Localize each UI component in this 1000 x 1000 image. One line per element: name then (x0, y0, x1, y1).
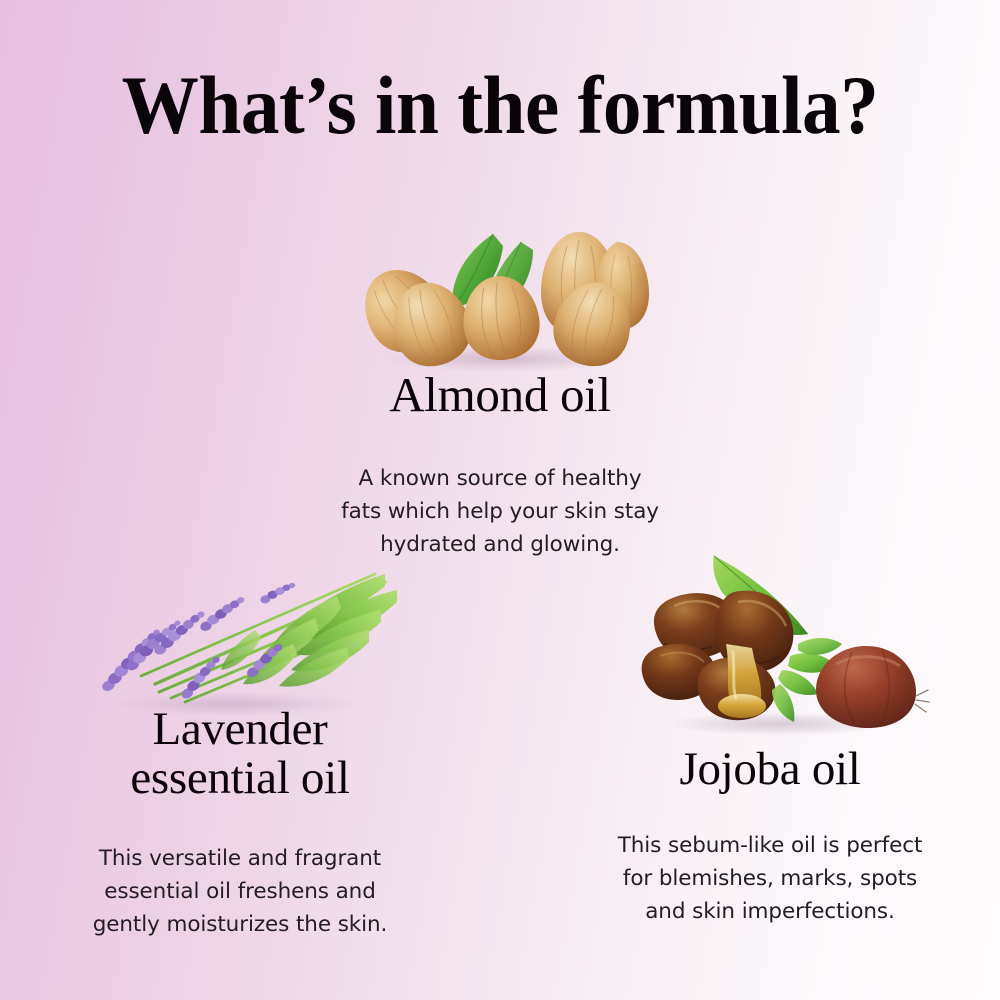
description-line: for blemishes, marks, spots (570, 863, 970, 896)
almond-image (345, 212, 665, 377)
description-line: A known source of healthy (275, 463, 725, 496)
lavender-image (85, 552, 405, 722)
ingredient-block-lavender: Lavender essential oil This versatile an… (35, 705, 445, 941)
ingredient-description-almond: A known source of healthy fats which hel… (275, 463, 725, 562)
page-title: What’s in the formula? (35, 64, 965, 147)
description-line: This versatile and fragrant (35, 843, 445, 876)
ingredient-heading-almond: Almond oil (275, 370, 725, 421)
description-line: fats which help your skin stay (275, 496, 725, 529)
ingredient-heading-lavender: Lavender essential oil (35, 705, 445, 803)
heading-line: Lavender (35, 705, 445, 754)
ingredient-heading-jojoba: Jojoba oil (570, 745, 970, 794)
description-line: essential oil freshens and (35, 876, 445, 909)
description-line: and skin imperfections. (570, 896, 970, 929)
ingredient-block-jojoba: Jojoba oil This sebum-like oil is perfec… (570, 745, 970, 929)
jojoba-image (630, 548, 930, 738)
description-line: This sebum-like oil is perfect (570, 830, 970, 863)
ingredient-block-almond: Almond oil A known source of healthy fat… (275, 370, 725, 562)
ingredient-description-lavender: This versatile and fragrant essential oi… (35, 843, 445, 942)
heading-line: essential oil (35, 754, 445, 803)
description-line: gently moisturizes the skin. (35, 909, 445, 942)
ingredient-description-jojoba: This sebum-like oil is perfect for blemi… (570, 830, 970, 929)
ingredients-poster: What’s in the formula? (0, 0, 1000, 1000)
